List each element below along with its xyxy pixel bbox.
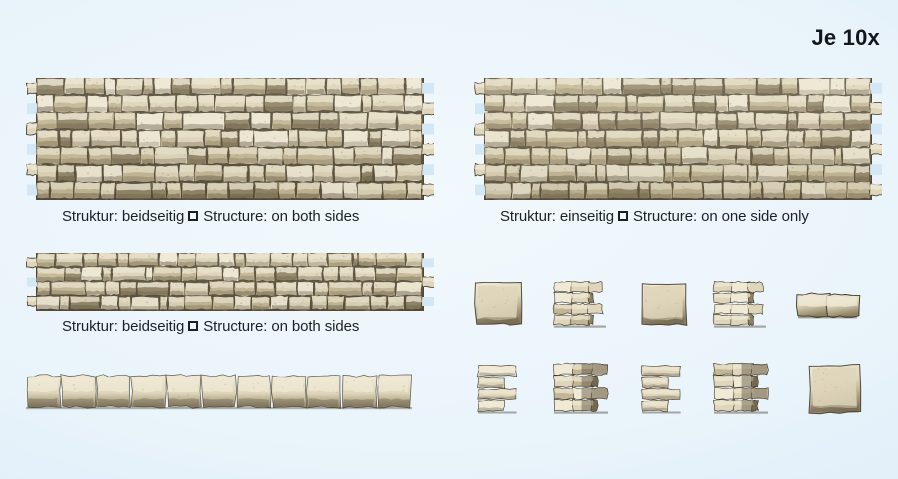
wall-block-four-course — [552, 362, 620, 422]
wall-end-left-stepped — [552, 280, 618, 336]
pillar-cap-square-2 — [640, 282, 698, 334]
caption-german-text: Struktur: einseitig — [500, 208, 614, 225]
wall-block-four-course-2 — [712, 362, 780, 422]
tall-wall-one-side — [474, 78, 882, 200]
square-glyph-icon — [618, 211, 628, 221]
tall-wall-both-sides — [26, 78, 434, 200]
pillar-cap-square — [474, 282, 532, 334]
caption-english-text: Structure: on both sides — [203, 318, 359, 335]
square-glyph-icon — [188, 321, 198, 331]
caption-german-text: Struktur: beidseitig — [62, 208, 184, 225]
low-wall-both-sides — [26, 253, 434, 311]
caption-german-text: Struktur: beidseitig — [62, 318, 184, 335]
square-glyph-icon — [188, 211, 198, 221]
wall-corner-narrow — [476, 364, 528, 422]
caption-wall-top-right: Struktur: einseitigStructure: on one sid… — [500, 208, 809, 225]
caption-wall-top-left: Struktur: beidseitigStructure: on both s… — [62, 208, 359, 225]
caption-wall-mid-left: Struktur: beidseitigStructure: on both s… — [62, 318, 359, 335]
quantity-label: Je 10x — [812, 25, 881, 51]
pillar-cap-large — [808, 364, 872, 422]
caption-english-text: Structure: on one side only — [633, 208, 809, 225]
wall-end-right-stepped — [712, 280, 778, 336]
caption-english-text: Structure: on both sides — [203, 208, 359, 225]
wall-corner-narrow-2 — [640, 364, 692, 422]
capstone-wide — [796, 292, 868, 328]
product-image-canvas: Je 10x Struktur: beidseitigStructure: on… — [0, 0, 898, 479]
wall-cap-strip — [26, 372, 412, 412]
